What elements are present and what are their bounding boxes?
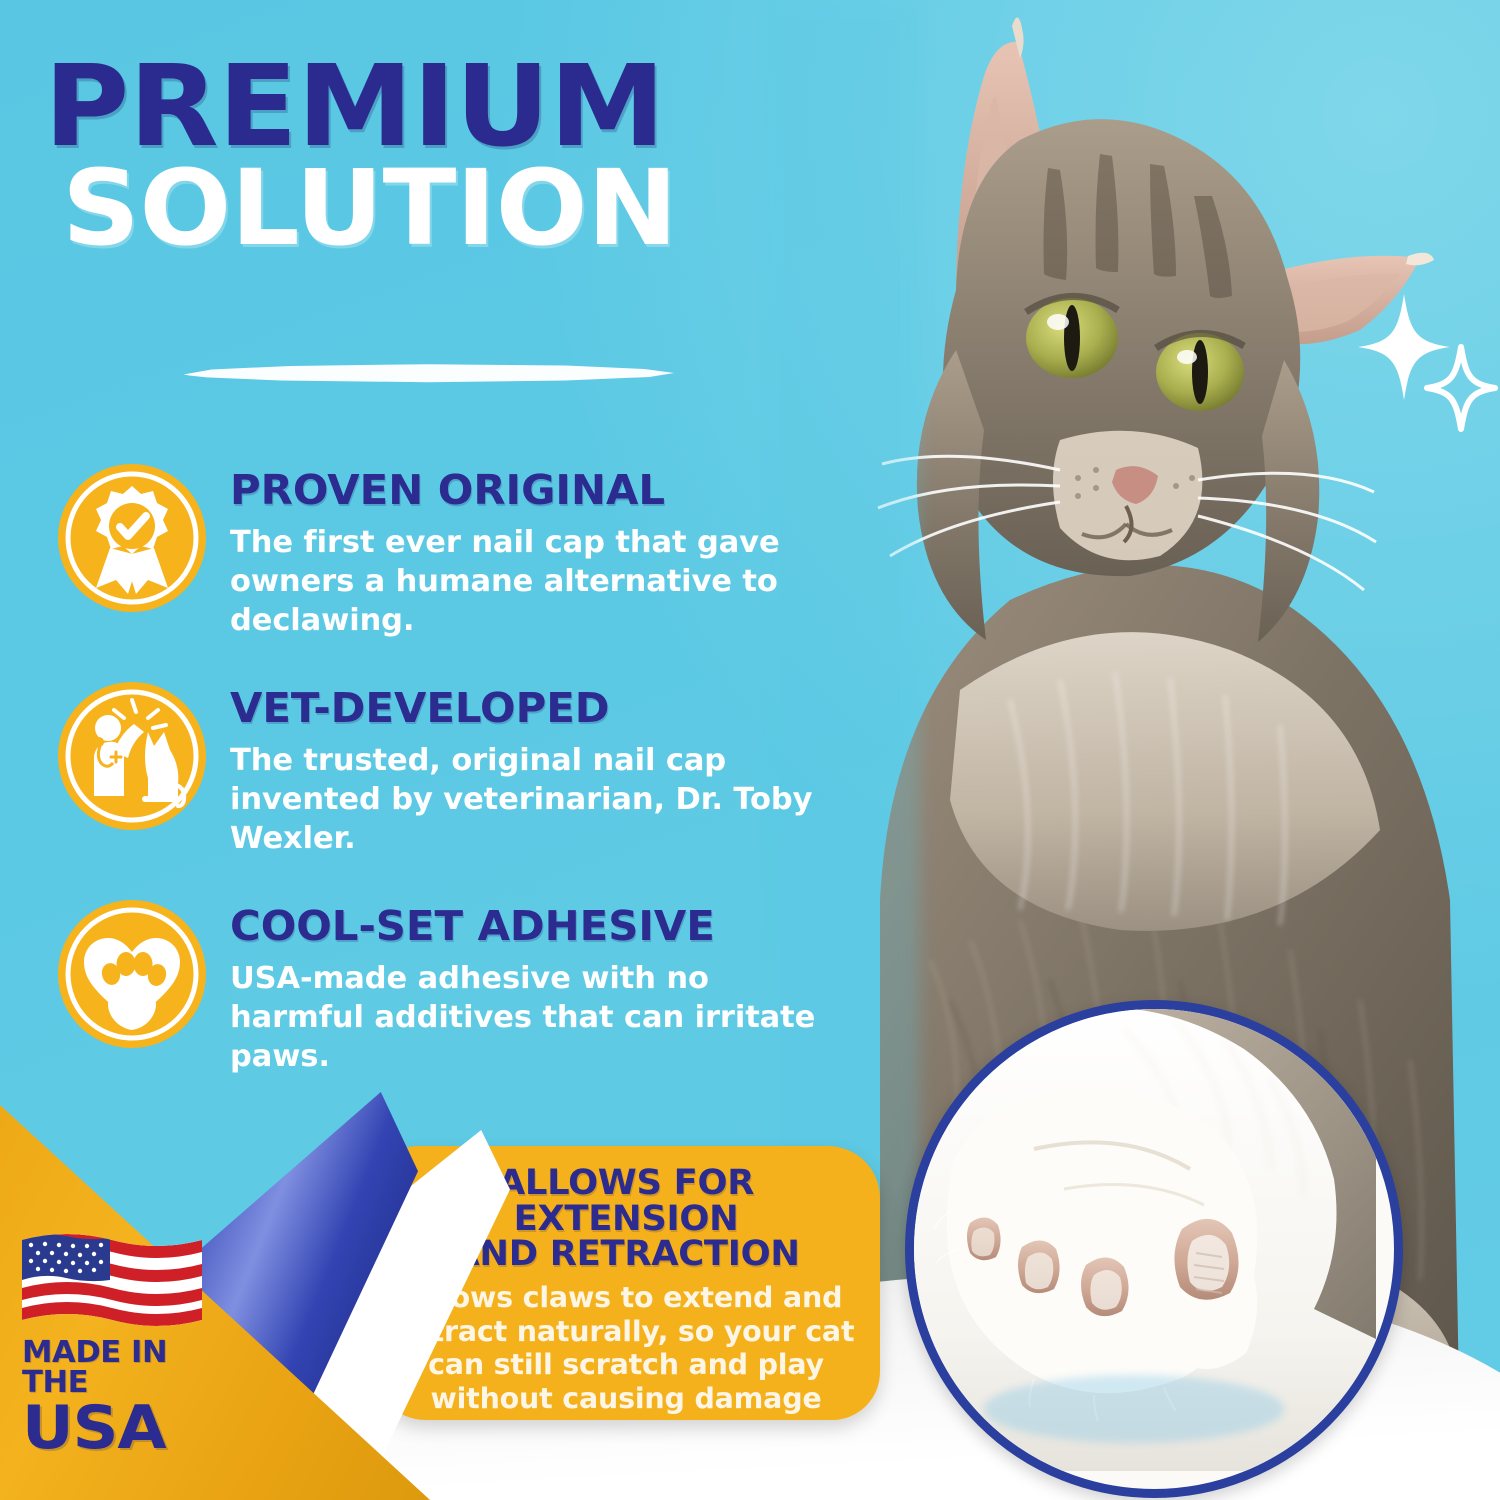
feature-list: PROVEN ORIGINAL The first ever nail cap … — [56, 462, 846, 1076]
made-in-usa-line-2: USA — [22, 1401, 245, 1456]
list-item: VET-DEVELOPED The trusted, original nail… — [56, 680, 846, 858]
paw-inset-photo — [905, 1000, 1403, 1498]
feature-body: The first ever nail cap that gave owners… — [230, 523, 846, 640]
made-in-usa-line-1: MADE IN THE — [22, 1338, 236, 1398]
feature-title: COOL-SET ADHESIVE — [230, 906, 858, 947]
feature-title: PROVEN ORIGINAL — [230, 470, 858, 511]
callout-title-line-2: AND RETRACTION — [452, 1234, 799, 1274]
feature-text: COOL-SET ADHESIVE USA-made adhesive with… — [230, 898, 846, 1076]
feature-body: The trusted, original nail cap invented … — [230, 741, 846, 858]
headline-line-2: SOLUTION — [62, 163, 886, 255]
feature-body: USA-made adhesive with no harmful additi… — [230, 959, 846, 1076]
callout-body: Allows claws to extend and retract natur… — [390, 1281, 862, 1416]
list-item: COOL-SET ADHESIVE USA-made adhesive with… — [56, 898, 846, 1076]
headline-line-1: PREMIUM — [44, 58, 886, 157]
feature-text: VET-DEVELOPED The trusted, original nail… — [230, 680, 846, 858]
callout-title-line-1: ALLOWS FOR EXTENSION — [498, 1163, 754, 1239]
product-infographic: PREMIUM SOLUTION PROVEN ORIGINAL The fir — [0, 0, 1500, 1500]
feature-title: VET-DEVELOPED — [230, 688, 858, 729]
award-ribbon-check-icon — [56, 462, 208, 614]
feature-text: PROVEN ORIGINAL The first ever nail cap … — [230, 462, 846, 640]
vet-high-five-cat-icon — [56, 680, 208, 832]
page-title: PREMIUM SOLUTION — [44, 58, 854, 254]
paw-in-heart-icon — [56, 898, 208, 1050]
made-in-usa-badge: MADE IN THE USA — [22, 1234, 232, 1456]
list-item: PROVEN ORIGINAL The first ever nail cap … — [56, 462, 846, 640]
usa-flag-icon — [22, 1234, 202, 1330]
sparkle-outline-icon — [1424, 344, 1498, 436]
